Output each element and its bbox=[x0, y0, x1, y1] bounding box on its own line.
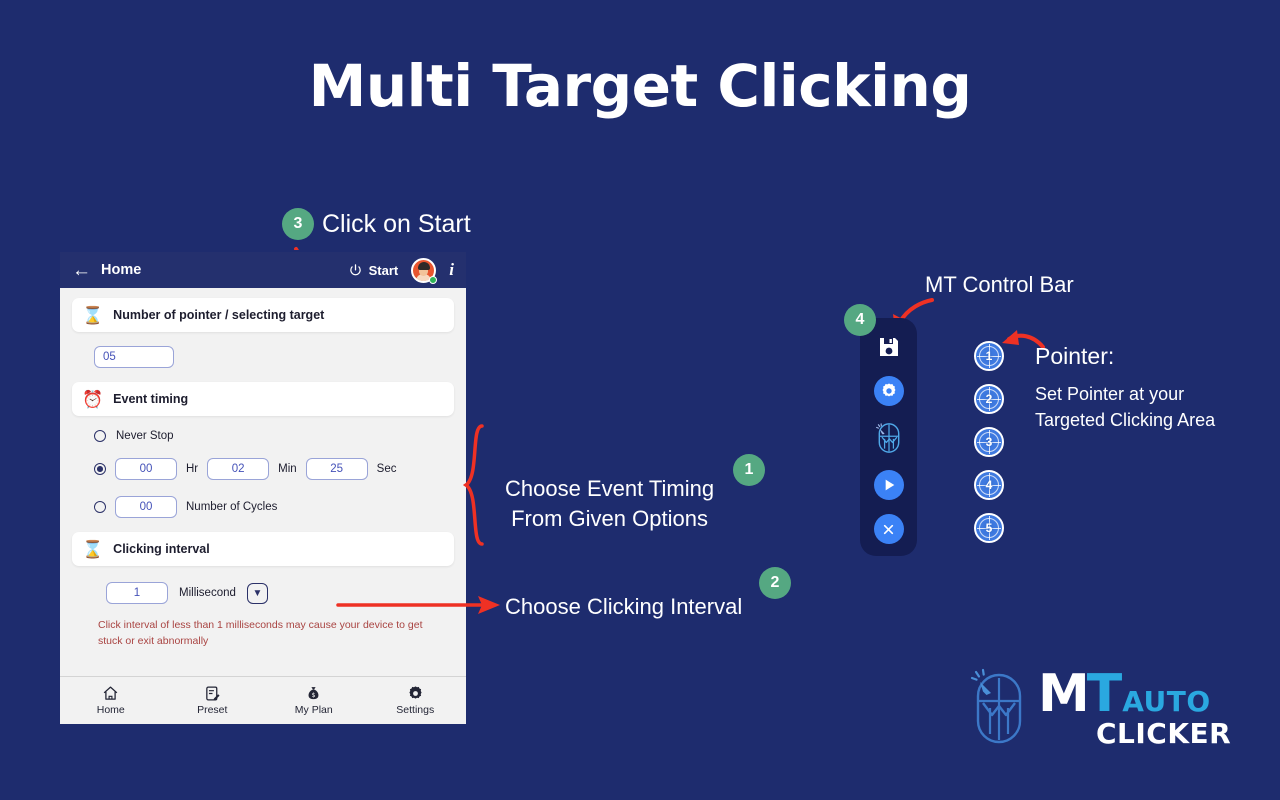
nav-item-preset[interactable]: Preset bbox=[162, 677, 264, 724]
logo-auto: AUTO bbox=[1122, 689, 1210, 715]
pointer-target-1[interactable]: 1 bbox=[974, 341, 1004, 371]
mt-auto-clicker-logo: M T AUTO CLICKER bbox=[968, 668, 1231, 750]
pointer-number: 2 bbox=[986, 392, 993, 406]
pointer-section-label: Number of pointer / selecting target bbox=[113, 308, 324, 322]
app-bar-title: Home bbox=[101, 262, 141, 278]
seconds-unit: Sec bbox=[377, 463, 397, 475]
pointer-description: Set Pointer at your Targeted Clicking Ar… bbox=[1035, 381, 1215, 433]
cycles-label: Number of Cycles bbox=[186, 501, 277, 513]
back-arrow-icon[interactable]: ← bbox=[72, 261, 91, 280]
step-badge-3: 3 bbox=[282, 208, 314, 240]
nav-label-settings: Settings bbox=[396, 704, 434, 716]
app-body: ⌛ Number of pointer / selecting target 0… bbox=[60, 288, 466, 726]
app-screenshot: ← Home Start i ⌛ bbox=[58, 250, 468, 726]
bottom-nav: Home Preset $ My Plan Settings bbox=[60, 676, 466, 724]
step-badge-4: 4 bbox=[844, 304, 876, 336]
nav-item-settings[interactable]: Settings bbox=[365, 677, 467, 724]
option-duration[interactable]: 00 Hr 02 Min 25 Sec bbox=[94, 458, 454, 480]
option-never-stop[interactable]: Never Stop bbox=[94, 430, 454, 442]
settings-icon bbox=[407, 685, 424, 702]
cycles-input[interactable]: 00 bbox=[115, 496, 177, 518]
step1-caption: Choose Event Timing From Given Options bbox=[505, 474, 714, 533]
step3-caption: Click on Start bbox=[322, 210, 471, 239]
pointer-section-card: ⌛ Number of pointer / selecting target bbox=[72, 298, 454, 332]
my-plan-icon: $ bbox=[305, 685, 322, 702]
hourglass-icon: ⌛ bbox=[82, 307, 103, 324]
home-icon bbox=[102, 685, 119, 702]
pointer-target-5[interactable]: 5 bbox=[974, 513, 1004, 543]
step2-caption: Choose Clicking Interval bbox=[505, 592, 742, 622]
event-timing-label: Event timing bbox=[113, 392, 188, 406]
nav-label-my-plan: My Plan bbox=[295, 704, 333, 716]
gear-icon[interactable] bbox=[874, 376, 904, 406]
preset-icon bbox=[204, 685, 221, 702]
start-label: Start bbox=[369, 263, 399, 278]
mt-mouse-logo-icon bbox=[968, 668, 1030, 750]
radio-duration[interactable] bbox=[94, 463, 106, 475]
pointer-number: 4 bbox=[986, 478, 993, 492]
nav-label-preset: Preset bbox=[197, 704, 227, 716]
hourglass-icon-2: ⌛ bbox=[82, 541, 103, 558]
app-bar: ← Home Start i bbox=[60, 252, 466, 288]
mt-mouse-icon[interactable] bbox=[874, 420, 904, 456]
page-title: Multi Target Clicking bbox=[0, 52, 1280, 120]
radio-cycles[interactable] bbox=[94, 501, 106, 513]
seconds-input[interactable]: 25 bbox=[306, 458, 368, 480]
pointer-title: Pointer: bbox=[1035, 341, 1114, 372]
mt-control-bar-caption: MT Control Bar bbox=[925, 270, 1074, 300]
pointer-number: 1 bbox=[986, 349, 993, 363]
interval-warning-text: Click interval of less than 1 millisecon… bbox=[98, 617, 448, 650]
nav-item-home[interactable]: Home bbox=[60, 677, 162, 724]
minutes-unit: Min bbox=[278, 463, 297, 475]
interval-unit-label: Millisecond bbox=[179, 587, 236, 599]
never-stop-label: Never Stop bbox=[116, 430, 174, 442]
svg-text:$: $ bbox=[312, 691, 316, 699]
mt-control-bar bbox=[860, 318, 917, 556]
pointer-target-3[interactable]: 3 bbox=[974, 427, 1004, 457]
pointer-number: 3 bbox=[986, 435, 993, 449]
power-icon bbox=[348, 263, 363, 278]
alarm-clock-icon: ⏰ bbox=[82, 391, 103, 408]
play-icon[interactable] bbox=[874, 470, 904, 500]
clicking-interval-label: Clicking interval bbox=[113, 542, 210, 556]
close-icon[interactable] bbox=[874, 514, 904, 544]
logo-letter-t: T bbox=[1087, 671, 1120, 719]
hours-input[interactable]: 00 bbox=[115, 458, 177, 480]
start-button[interactable]: Start bbox=[348, 263, 399, 278]
event-timing-brace-icon bbox=[462, 424, 494, 546]
pointer-count-input[interactable]: 05 bbox=[94, 346, 174, 368]
hours-unit: Hr bbox=[186, 463, 198, 475]
interval-input[interactable]: 1 bbox=[106, 582, 168, 604]
event-timing-card: ⏰ Event timing bbox=[72, 382, 454, 416]
logo-clicker: CLICKER bbox=[1096, 721, 1231, 747]
nav-item-my-plan[interactable]: $ My Plan bbox=[263, 677, 365, 724]
minutes-input[interactable]: 02 bbox=[207, 458, 269, 480]
step-badge-2: 2 bbox=[759, 567, 791, 599]
chevron-down-icon[interactable]: ▼ bbox=[247, 583, 268, 604]
option-cycles[interactable]: 00 Number of Cycles bbox=[94, 496, 454, 518]
pointer-target-4[interactable]: 4 bbox=[974, 470, 1004, 500]
arrow-to-clicking-interval-icon bbox=[336, 592, 504, 618]
pointer-targets: 1 2 3 4 5 bbox=[974, 341, 1004, 543]
avatar[interactable] bbox=[411, 258, 436, 283]
radio-never-stop[interactable] bbox=[94, 430, 106, 442]
info-icon[interactable]: i bbox=[449, 260, 454, 280]
step-badge-1: 1 bbox=[733, 454, 765, 486]
clicking-interval-card: ⌛ Clicking interval bbox=[72, 532, 454, 566]
pointer-number: 5 bbox=[986, 521, 993, 535]
pointer-target-2[interactable]: 2 bbox=[974, 384, 1004, 414]
status-dot bbox=[429, 276, 437, 284]
logo-letter-m: M bbox=[1038, 671, 1087, 719]
nav-label-home: Home bbox=[97, 704, 125, 716]
save-icon[interactable] bbox=[874, 332, 904, 362]
